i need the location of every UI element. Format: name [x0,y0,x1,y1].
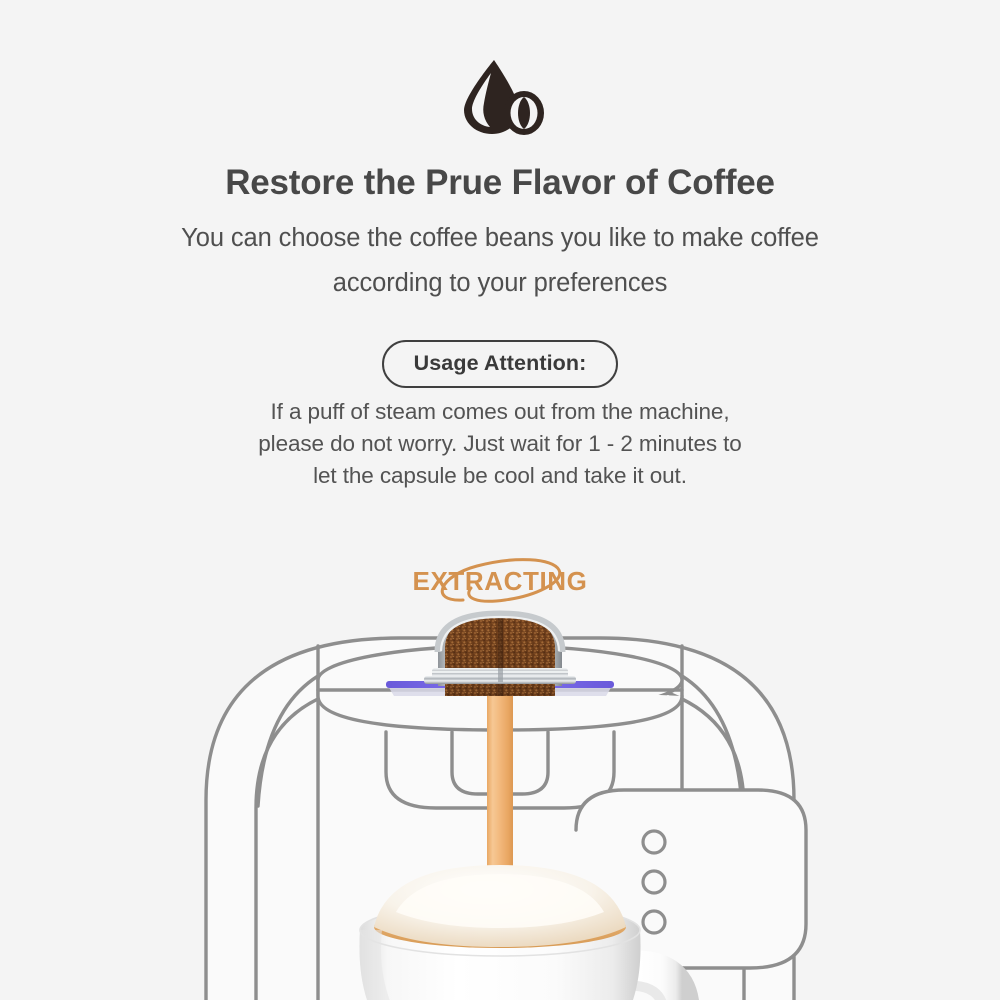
brand-icon-container [0,58,1000,136]
page-subhead: You can choose the coffee beans you like… [0,216,1000,306]
usage-attention-badge-wrap: Usage Attention: [0,340,1000,388]
attention-body-line-1: If a puff of steam comes out from the ma… [0,396,1000,428]
usage-attention-badge: Usage Attention: [382,340,619,388]
attention-body-line-2: please do not worry. Just wait for 1 - 2… [0,428,1000,460]
coffee-capsule [424,610,576,702]
page-headline: Restore the Prue Flavor of Coffee [0,163,1000,203]
coffee-machine-illustration [0,500,1000,1000]
coffee-droplet-bean-icon [454,58,546,136]
subhead-line-1: You can choose the coffee beans you like… [0,216,1000,261]
attention-body-line-3: let the capsule be cool and take it out. [0,460,1000,492]
subhead-line-2: according to your preferences [0,261,1000,306]
attention-body-copy: If a puff of steam comes out from the ma… [0,396,1000,492]
product-info-page: Restore the Prue Flavor of Coffee You ca… [0,0,1000,1000]
